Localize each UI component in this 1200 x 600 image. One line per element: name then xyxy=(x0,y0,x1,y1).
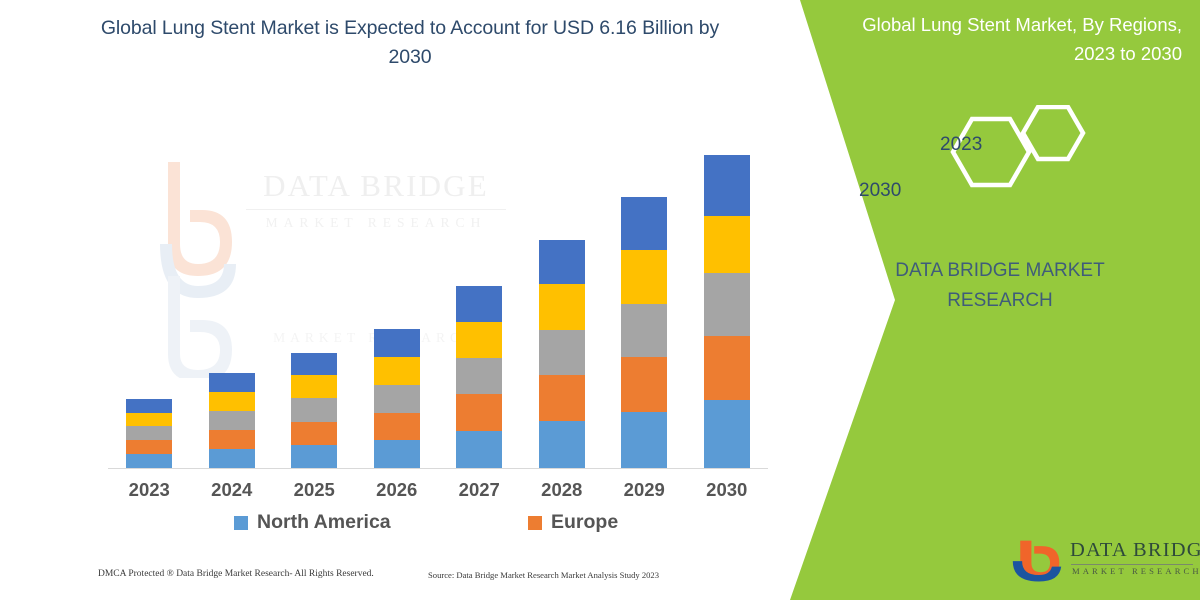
legend-item-europe: Europe xyxy=(528,511,618,534)
bar-segment-north-america xyxy=(291,445,337,468)
bar-2030 xyxy=(704,155,750,468)
bar-segment-north-america xyxy=(704,400,750,468)
x-axis-label-2027: 2027 xyxy=(434,479,524,501)
bar-segment-south-america xyxy=(621,197,667,250)
bar-segment-europe xyxy=(539,375,585,421)
bar-segment-north-america xyxy=(456,431,502,468)
bar-segment-middle-east-and-africa xyxy=(456,322,502,358)
bar-stack xyxy=(209,373,255,468)
bar-segment-europe xyxy=(209,430,255,449)
bar-segment-europe xyxy=(456,394,502,431)
bar-segment-europe xyxy=(704,336,750,400)
brand-line-2: RESEARCH xyxy=(830,286,1170,316)
bar-stack xyxy=(704,155,750,468)
bar-segment-north-america xyxy=(539,421,585,468)
bar-segment-europe xyxy=(291,422,337,445)
dbmr-logo-divider xyxy=(1071,564,1193,565)
footer-source: Source: Data Bridge Market Research Mark… xyxy=(428,570,659,580)
infographic-canvas: Global Lung Stent Market is Expected to … xyxy=(0,0,1200,600)
bar-segment-asia-pacific xyxy=(291,398,337,421)
bar-segment-middle-east-and-africa xyxy=(291,375,337,398)
bar-stack xyxy=(456,286,502,468)
x-axis-label-2030: 2030 xyxy=(682,479,772,501)
bar-segment-middle-east-and-africa xyxy=(126,413,172,427)
right-panel-title-line1: Global Lung Stent Market, By Regions, xyxy=(820,10,1182,39)
bar-2025 xyxy=(291,353,337,468)
bar-segment-asia-pacific xyxy=(374,385,420,413)
legend-swatch xyxy=(234,516,248,530)
bar-segment-south-america xyxy=(291,353,337,376)
legend-label: North America xyxy=(257,511,391,534)
x-axis-label-2025: 2025 xyxy=(269,479,359,501)
right-panel-title: Global Lung Stent Market, By Regions, 20… xyxy=(820,10,1182,68)
bar-stack xyxy=(126,399,172,468)
bar-segment-south-america xyxy=(126,399,172,413)
bar-segment-south-america xyxy=(704,155,750,216)
bar-segment-asia-pacific xyxy=(704,273,750,337)
hexagon-2030-label: 2030 xyxy=(859,180,901,202)
bar-segment-middle-east-and-africa xyxy=(621,250,667,303)
bar-segment-south-america xyxy=(539,240,585,285)
dbmr-logo-subtitle: MARKET RESEARCH xyxy=(1072,566,1200,576)
hexagon-2023-label: 2023 xyxy=(940,134,982,156)
dbmr-logo-title: DATA BRIDGE xyxy=(1070,539,1200,562)
chart-legend: North AmericaEurope xyxy=(108,511,768,541)
bar-segment-europe xyxy=(621,357,667,411)
bar-segment-middle-east-and-africa xyxy=(209,392,255,411)
right-panel-title-line2: 2023 to 2030 xyxy=(820,39,1182,68)
bar-segment-south-america xyxy=(209,373,255,392)
hexagon-2023 xyxy=(1023,107,1083,159)
x-axis-label-2024: 2024 xyxy=(187,479,277,501)
bar-segment-asia-pacific xyxy=(126,426,172,440)
x-axis-label-2023: 2023 xyxy=(104,479,194,501)
bar-segment-south-america xyxy=(456,286,502,322)
brand-line-1: DATA BRIDGE MARKET xyxy=(830,256,1170,286)
bar-segment-europe xyxy=(126,440,172,454)
bar-segment-middle-east-and-africa xyxy=(539,284,585,329)
x-axis-label-2026: 2026 xyxy=(352,479,442,501)
bar-segment-middle-east-and-africa xyxy=(374,357,420,385)
x-axis-label-2028: 2028 xyxy=(517,479,607,501)
bar-segment-south-america xyxy=(374,329,420,357)
bar-segment-north-america xyxy=(374,440,420,468)
bar-segment-north-america xyxy=(126,454,172,468)
x-axis-line xyxy=(108,468,768,469)
bar-2028 xyxy=(539,240,585,468)
bar-2024 xyxy=(209,373,255,468)
dbmr-logo: DATA BRIDGE MARKET RESEARCH xyxy=(1008,533,1198,591)
right-panel-brand: DATA BRIDGE MARKET RESEARCH xyxy=(830,256,1170,316)
bar-segment-north-america xyxy=(209,449,255,468)
chart-panel: Global Lung Stent Market is Expected to … xyxy=(0,0,800,600)
bar-2029 xyxy=(621,197,667,468)
bar-segment-north-america xyxy=(621,412,667,468)
bar-segment-asia-pacific xyxy=(539,330,585,375)
bar-stack xyxy=(291,353,337,468)
bar-segment-asia-pacific xyxy=(621,304,667,357)
plot-area: 20232024202520262027202820292030 xyxy=(0,0,800,600)
legend-label: Europe xyxy=(551,511,618,534)
bar-segment-asia-pacific xyxy=(209,411,255,430)
right-panel-content: Global Lung Stent Market, By Regions, 20… xyxy=(820,0,1200,600)
hexagon-group xyxy=(920,105,1160,225)
bar-stack xyxy=(621,197,667,468)
bar-stack xyxy=(374,329,420,468)
legend-item-north-america: North America xyxy=(234,511,391,534)
bar-segment-middle-east-and-africa xyxy=(704,216,750,272)
bar-segment-asia-pacific xyxy=(456,358,502,394)
legend-swatch xyxy=(528,516,542,530)
bar-2023 xyxy=(126,399,172,468)
bar-2026 xyxy=(374,329,420,468)
bar-2027 xyxy=(456,286,502,468)
bar-segment-europe xyxy=(374,413,420,441)
x-axis-label-2029: 2029 xyxy=(599,479,689,501)
bar-stack xyxy=(539,240,585,468)
dbmr-logo-mark xyxy=(1008,535,1066,589)
footer-copyright: DMCA Protected ® Data Bridge Market Rese… xyxy=(98,569,374,579)
